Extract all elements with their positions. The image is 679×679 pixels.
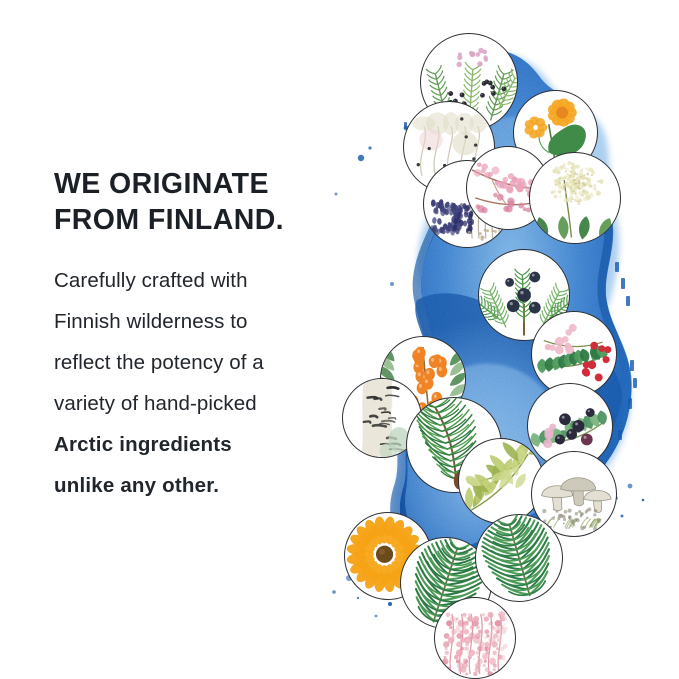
willow-leaf-icon [459, 439, 543, 523]
elderflower-icon [530, 153, 620, 243]
page-title: WE ORIGINATE FROM FINLAND. [54, 166, 354, 238]
body-line: unlike any other. [54, 465, 354, 506]
splatter-dot [332, 590, 336, 594]
body-copy: Carefully crafted withFinnish wilderness… [54, 238, 354, 506]
botanical-circle-pink-meadowsweet [434, 597, 516, 679]
botanical-circle-elderflower [529, 152, 621, 244]
finland-map-illustration [318, 0, 679, 679]
splatter-dot [642, 499, 645, 502]
body-line: Arctic ingredients [54, 424, 354, 465]
splatter-dot [375, 615, 378, 618]
splatter-dot [335, 193, 338, 196]
splatter-dot [368, 146, 371, 149]
splatter-dot [628, 484, 633, 489]
splatter-dot [621, 515, 624, 518]
botanical-circle-spruce-sprig-right [475, 514, 563, 602]
body-line: Finnish wilderness to [54, 301, 354, 342]
splatter-dot [358, 155, 364, 161]
body-line: variety of hand-picked [54, 383, 354, 424]
pink-meadowsweet-icon [435, 598, 515, 678]
body-line: reflect the potency of a [54, 342, 354, 383]
poster-canvas: WE ORIGINATE FROM FINLAND. Carefully cra… [0, 0, 679, 679]
spruce-sprig-right-icon [476, 515, 562, 601]
splatter-dot [357, 597, 359, 599]
botanical-circle-willow-leaf [458, 438, 544, 524]
body-line: Carefully crafted with [54, 260, 354, 301]
splatter-dot [388, 602, 392, 606]
splatter-dot [390, 282, 394, 286]
text-panel: WE ORIGINATE FROM FINLAND. Carefully cra… [54, 166, 354, 506]
